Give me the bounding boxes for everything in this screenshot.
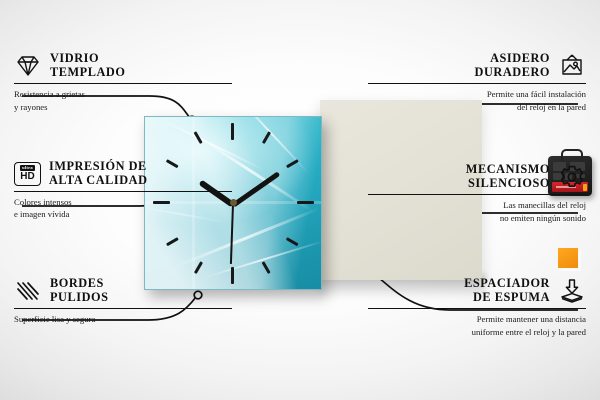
feature-title-line1: IMPRESIÓN DE	[49, 160, 148, 174]
feature-title-line1: VIDRIO	[50, 52, 125, 66]
divider	[14, 191, 232, 192]
feature-desc-line1: Permite mantener una distancia	[368, 313, 586, 325]
feature-mecanismo-silencioso: MECANISMO SILENCIOSO Las manecillas del …	[368, 163, 586, 224]
feature-title-line2: DE ESPUMA	[464, 291, 550, 305]
divider	[368, 308, 586, 309]
clock-tick	[262, 131, 271, 144]
feature-impresion-alta-calidad: ultra HD IMPRESIÓN DE ALTA CALIDAD Color…	[14, 160, 232, 221]
clock-tick	[262, 261, 271, 274]
feature-espaciador-de-espuma: ESPACIADOR DE ESPUMA Permite mantener un…	[368, 277, 586, 338]
clock-tick	[286, 237, 299, 246]
feature-desc-line2: e imagen vívida	[14, 208, 232, 220]
feature-title-line2: SILENCIOSO	[466, 177, 550, 191]
divider	[14, 308, 232, 309]
clock-tick	[286, 159, 299, 168]
arrow-down-onto-layers-icon	[558, 277, 586, 305]
feature-title-line1: BORDES	[50, 277, 109, 291]
clock-tick	[297, 201, 314, 204]
feature-title-line1: ESPACIADOR	[464, 277, 550, 291]
feature-vidrio-templado: VIDRIO TEMPLADO Resistencia a grietas y …	[14, 52, 232, 113]
clock-tick	[166, 237, 179, 246]
clock-tick	[194, 261, 203, 274]
feature-desc-line1: Superficie lisa y segura	[14, 313, 232, 325]
divider	[14, 83, 232, 84]
divider	[368, 83, 586, 84]
diamond-icon	[14, 52, 42, 80]
foam-spacer	[558, 248, 578, 268]
feature-desc-line2: y rayones	[14, 101, 232, 113]
hanger-loop-icon	[561, 149, 583, 161]
feature-bordes-pulidos: BORDES PULIDOS Superficie lisa y segura	[14, 277, 232, 326]
ultra-hd-badge-icon: ultra HD	[14, 162, 41, 186]
infographic-canvas: VIDRIO TEMPLADO Resistencia a grietas y …	[0, 0, 600, 400]
feature-desc-line1: Las manecillas del reloj	[368, 199, 586, 211]
feature-desc-line1: Permite una fácil instalación	[368, 88, 586, 100]
feature-title-line2: DURADERO	[475, 66, 550, 80]
feature-title-line1: ASIDERO	[475, 52, 550, 66]
feature-desc-line1: Colores intensos	[14, 196, 232, 208]
gear-icon	[558, 163, 586, 191]
clock-tick	[231, 123, 234, 140]
feature-title-line2: TEMPLADO	[50, 66, 125, 80]
framed-picture-hanging-icon	[558, 52, 586, 80]
feature-title-line1: MECANISMO	[466, 163, 550, 177]
feature-title-line2: PULIDOS	[50, 291, 109, 305]
badge-large-text: HD	[20, 172, 34, 182]
feature-title-line2: ALTA CALIDAD	[49, 174, 148, 188]
feature-desc-line2: no emiten ningún sonido	[368, 212, 586, 224]
feature-asidero-duradero: ASIDERO DURADERO Permite una fácil insta…	[368, 52, 586, 113]
divider	[368, 194, 586, 195]
feature-desc-line2: del reloj en la pared	[368, 101, 586, 113]
feature-desc-line2: uniforme entre el reloj y la pared	[368, 326, 586, 338]
diagonal-lines-icon	[14, 277, 42, 305]
feature-desc-line1: Resistencia a grietas	[14, 88, 232, 100]
